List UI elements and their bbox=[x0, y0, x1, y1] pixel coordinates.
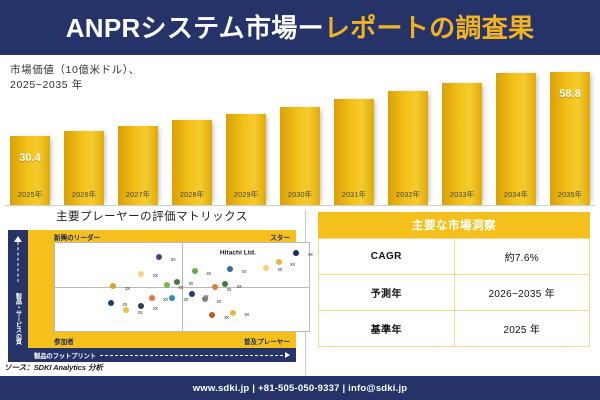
key-insights-header: 主要な市場洞察 bbox=[318, 212, 590, 238]
x-axis-tick-label: 2032年 bbox=[386, 190, 430, 204]
bar-slot bbox=[440, 55, 484, 205]
matrix-data-point[interactable] bbox=[189, 291, 195, 297]
x-axis-tick-label: 2030年 bbox=[278, 190, 322, 204]
quadrant-label-participant: 参加者 bbox=[54, 336, 74, 346]
right-arrow-icon bbox=[285, 352, 290, 358]
matrix-data-point[interactable] bbox=[227, 266, 233, 272]
matrix-point-label: xx bbox=[183, 297, 188, 303]
matrix-point-label: xx bbox=[163, 297, 168, 303]
y-axis-dashed-line bbox=[18, 242, 19, 282]
evaluation-matrix-panel: 主要プレーヤーの評価マトリックス 製品・サービスの質 新興のリーダー スター 参… bbox=[8, 208, 296, 360]
matrix-point-label: xx bbox=[153, 273, 158, 279]
insights-table-row: 基準年2025 年 bbox=[319, 311, 590, 347]
matrix-point-label: xx bbox=[237, 284, 242, 290]
matrix-y-axis-label: 製品・サービスの質 bbox=[14, 293, 23, 344]
insights-table-row: CAGR約7.6% bbox=[319, 239, 590, 275]
bar-slot: 30.4 bbox=[8, 55, 52, 205]
matrix-point-label: xx bbox=[242, 269, 247, 275]
insights-row-value: 2026−2035 年 bbox=[454, 275, 590, 311]
x-axis-tick-label: 2028年 bbox=[170, 190, 214, 204]
matrix-point-label: xx bbox=[227, 287, 232, 293]
matrix-gold-area: 新興のリーダー スター 参加者 普及プレーヤー xxxxxxxxxxxxxxxx… bbox=[28, 230, 296, 348]
insights-row-key: 予測年 bbox=[319, 275, 455, 311]
matrix-point-label: xx bbox=[171, 257, 176, 263]
bar-slot bbox=[116, 55, 160, 205]
matrix-data-point[interactable] bbox=[110, 283, 116, 289]
x-axis-tick-label: 2026年 bbox=[62, 190, 106, 204]
matrix-data-point[interactable] bbox=[293, 250, 299, 256]
insights-row-key: 基準年 bbox=[319, 311, 455, 347]
matrix-data-point[interactable] bbox=[138, 303, 144, 309]
bar-slot bbox=[332, 55, 376, 205]
bar-slot bbox=[170, 55, 214, 205]
x-axis-tick-label: 2035年 bbox=[548, 190, 592, 204]
matrix-point-label: xx bbox=[178, 285, 183, 291]
chart-axis-line bbox=[4, 205, 596, 206]
header-title-bar: ANPRシステム市場ーレポートの調査果 bbox=[0, 0, 600, 55]
chart-bar[interactable] bbox=[442, 83, 482, 205]
matrix-data-point[interactable] bbox=[192, 268, 198, 274]
matrix-data-point[interactable] bbox=[263, 265, 269, 271]
source-note: ソース：SDKI Analytics 分析 bbox=[4, 362, 103, 373]
chart-bar[interactable] bbox=[388, 91, 428, 205]
matrix-point-label: xx bbox=[153, 306, 158, 312]
x-axis-tick-label: 2033年 bbox=[440, 190, 484, 204]
matrix-y-axis-band: 製品・サービスの質 bbox=[8, 230, 28, 362]
matrix-point-label: xx bbox=[308, 252, 313, 258]
bar-value-label: 30.4 bbox=[10, 152, 50, 164]
matrix-data-point[interactable] bbox=[108, 300, 114, 306]
matrix-data-point[interactable] bbox=[202, 296, 208, 302]
matrix-data-point[interactable] bbox=[123, 307, 129, 313]
page-title-primary: ANPRシステム市場ー bbox=[66, 13, 324, 43]
matrix-x-axis-label: 製品のフットプリント bbox=[34, 351, 96, 360]
bar-slot: 58.8 bbox=[548, 55, 592, 205]
chart-bar[interactable]: 58.8 bbox=[550, 72, 590, 205]
key-insights-table: CAGR約7.6%予測年2026−2035 年基準年2025 年 bbox=[318, 238, 590, 347]
matrix-data-point[interactable] bbox=[230, 310, 236, 316]
infographic-page: ANPRシステム市場ーレポートの調査果 市場価値（10億米ドル）、 2025−2… bbox=[0, 0, 600, 400]
x-axis-tick-label: 2031年 bbox=[332, 190, 376, 204]
matrix-data-point[interactable] bbox=[138, 271, 144, 277]
x-axis-tick-label: 2025年 bbox=[8, 190, 52, 204]
matrix-title: 主要プレーヤーの評価マトリックス bbox=[8, 208, 296, 224]
matrix-point-label: xx bbox=[217, 299, 222, 305]
matrix-company-label-hitachi: Hitachi Ltd. bbox=[220, 249, 256, 256]
x-axis-tick-label: 2029年 bbox=[224, 190, 268, 204]
matrix-frame: 製品・サービスの質 新興のリーダー スター 参加者 普及プレーヤー xxxxxx… bbox=[8, 230, 296, 348]
bar-slot bbox=[386, 55, 430, 205]
matrix-point-label: xx bbox=[224, 315, 229, 321]
matrix-data-point[interactable] bbox=[149, 295, 155, 301]
matrix-data-point[interactable] bbox=[169, 295, 175, 301]
bar-slot bbox=[494, 55, 538, 205]
matrix-scatter-plot: xxxxxxxxxxxxxxxxxxxxxxxxxxxxxxxxxxxxxxxx… bbox=[54, 242, 310, 332]
key-insights-panel: 主要な市場洞察 CAGR約7.6%予測年2026−2035 年基準年2025 年 bbox=[318, 212, 590, 362]
footer-contact-text: www.sdki.jp | +81-505-050-9337 | info@sd… bbox=[193, 383, 408, 394]
quadrant-label-emerging-leader: 新興のリーダー bbox=[54, 232, 100, 242]
x-axis-dashed-line bbox=[100, 355, 283, 356]
page-title-accent: レポートの調査果 bbox=[324, 13, 534, 43]
quadrant-label-pervasive-player: 普及プレーヤー bbox=[244, 336, 290, 346]
matrix-point-label: xx bbox=[244, 312, 249, 318]
matrix-data-point[interactable] bbox=[174, 279, 180, 285]
footer-bar: www.sdki.jp | +81-505-050-9337 | info@sd… bbox=[0, 376, 600, 400]
matrix-y-axis: 製品・サービスの質 bbox=[10, 234, 26, 344]
bar-slot bbox=[224, 55, 268, 205]
quadrant-label-star: スター bbox=[270, 232, 290, 242]
insights-row-value: 約7.6% bbox=[454, 239, 590, 275]
bar-chart: 市場価値（10億米ドル）、 2025−2035 年 30.458.8 bbox=[0, 55, 600, 205]
matrix-point-label: xx bbox=[189, 281, 194, 287]
matrix-data-point[interactable] bbox=[156, 254, 162, 260]
matrix-point-label: xx bbox=[138, 310, 143, 316]
matrix-point-label: xx bbox=[206, 271, 211, 277]
matrix-point-label: xx bbox=[277, 267, 282, 273]
matrix-data-point[interactable] bbox=[164, 282, 170, 288]
bar-slot bbox=[278, 55, 322, 205]
matrix-data-point[interactable] bbox=[212, 284, 218, 290]
x-axis-tick-label: 2027年 bbox=[116, 190, 160, 204]
insights-row-value: 2025 年 bbox=[454, 311, 590, 347]
bar-value-label: 58.8 bbox=[550, 88, 590, 100]
matrix-data-point[interactable] bbox=[209, 312, 215, 318]
insights-row-key: CAGR bbox=[319, 239, 455, 275]
matrix-point-label: xx bbox=[290, 262, 295, 268]
matrix-x-axis: 製品のフットプリント bbox=[28, 348, 296, 362]
x-axis-tick-label: 2034年 bbox=[494, 190, 538, 204]
bar-slot bbox=[62, 55, 106, 205]
matrix-point-label: xx bbox=[125, 286, 130, 292]
insights-table-row: 予測年2026−2035 年 bbox=[319, 275, 590, 311]
matrix-data-point[interactable] bbox=[276, 259, 282, 265]
chart-x-axis-labels: 2025年2026年2027年2028年2029年2030年2031年2032年… bbox=[8, 190, 592, 204]
page-title: ANPRシステム市場ーレポートの調査果 bbox=[66, 15, 535, 41]
chart-plot-area: 30.458.8 bbox=[8, 55, 592, 205]
chart-bar[interactable] bbox=[496, 73, 536, 205]
